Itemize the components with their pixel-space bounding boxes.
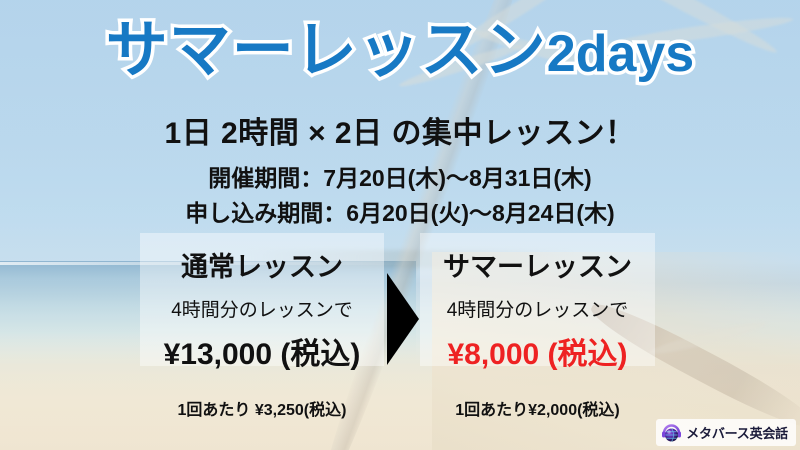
regular-lesson-price: ¥13,000 (税込) <box>140 329 384 373</box>
title-days-text: 2days <box>547 25 694 83</box>
summer-lesson-poster: サマーレッスン2days 1日 2時間 × 2日 の集中レッスン！ 開催期間：7… <box>0 0 800 450</box>
brand-logo: メタバース英会話 <box>656 419 796 446</box>
regular-lesson-heading: 通常レッスン <box>140 245 384 284</box>
right-arrow-icon <box>387 273 419 365</box>
summer-lesson-description: 4時間分のレッスンで <box>420 295 655 322</box>
poster-subtitle: 1日 2時間 × 2日 の集中レッスン！ <box>0 108 800 152</box>
poster-title: サマーレッスン2days <box>0 20 800 82</box>
summer-lesson-panel: サマーレッスン 4時間分のレッスンで ¥8,000 (税込) <box>420 233 655 366</box>
regular-lesson-panel: 通常レッスン 4時間分のレッスンで ¥13,000 (税込) <box>140 233 384 366</box>
signup-period-text: 申し込み期間：6月20日(火)〜8月24日(木) <box>0 194 800 228</box>
summer-lesson-heading: サマーレッスン <box>420 245 655 284</box>
brand-logo-text: メタバース英会話 <box>686 423 788 442</box>
summer-lesson-price: ¥8,000 (税込) <box>420 329 655 373</box>
summer-per-session-note: 1回あたり¥2,000(税込) <box>420 396 655 420</box>
globe-headset-icon <box>661 422 682 443</box>
title-main-text: サマーレッスン <box>106 16 547 85</box>
regular-lesson-description: 4時間分のレッスンで <box>140 295 384 322</box>
event-period-text: 開催期間：7月20日(木)〜8月31日(木) <box>0 159 800 193</box>
regular-per-session-note: 1回あたり ¥3,250(税込) <box>140 396 384 420</box>
